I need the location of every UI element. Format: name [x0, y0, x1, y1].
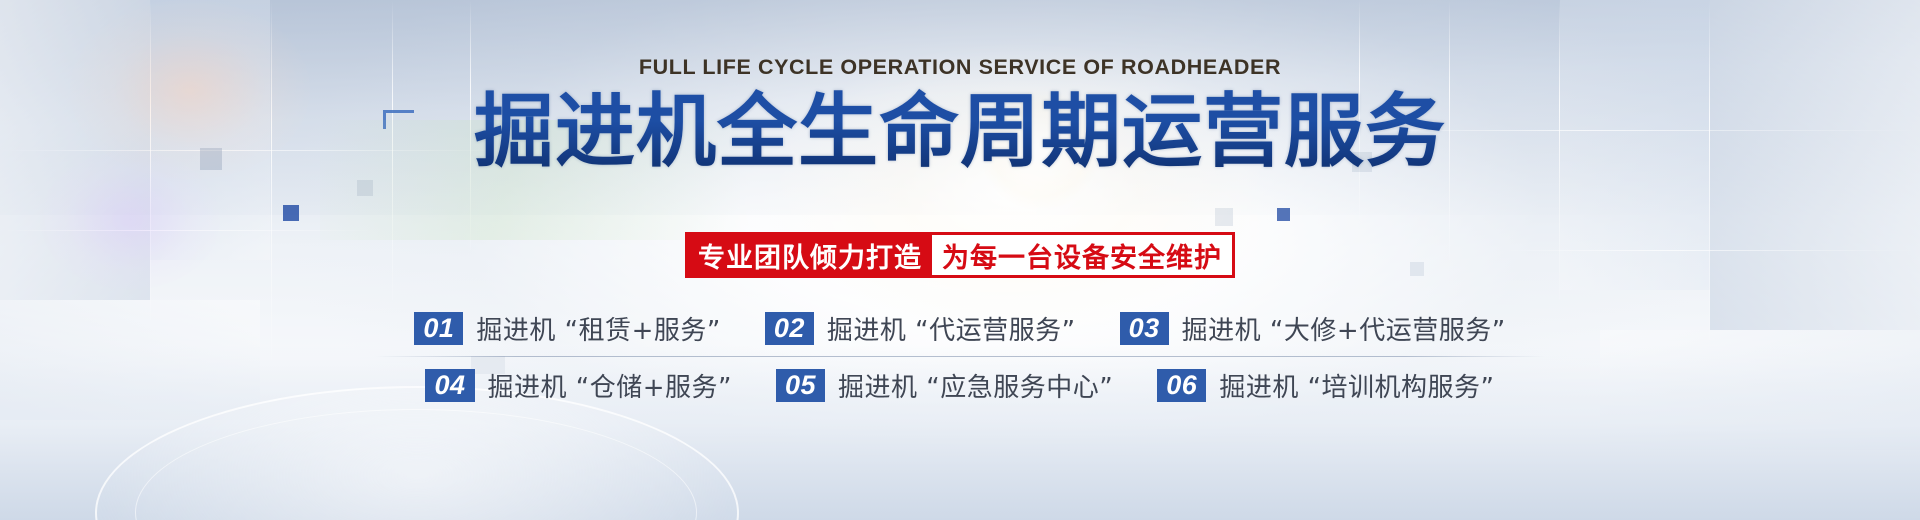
tagline-red-segment: 专业团队倾力打造	[688, 235, 932, 275]
service-item-01[interactable]: 01 掘进机 “租赁+服务”	[414, 310, 721, 347]
banner-tagline: 专业团队倾力打造 为每一台设备安全维护	[0, 232, 1920, 278]
service-label: 掘进机 “大修+代运营服务”	[1182, 310, 1506, 347]
service-number-badge: 02	[765, 312, 814, 345]
service-row-top: 01 掘进机 “租赁+服务” 02 掘进机 “代运营服务” 03 掘进机 “大修…	[375, 300, 1545, 356]
service-number-badge: 01	[414, 312, 463, 345]
service-item-06[interactable]: 06 掘进机 “培训机构服务”	[1157, 367, 1494, 404]
banner-content: FULL LIFE CYCLE OPERATION SERVICE OF ROA…	[0, 0, 1920, 520]
service-label: 掘进机 “代运营服务”	[827, 310, 1076, 347]
service-number-badge: 05	[776, 369, 825, 402]
banner-eyebrow-english: FULL LIFE CYCLE OPERATION SERVICE OF ROA…	[0, 55, 1920, 80]
service-row-bottom: 04 掘进机 “仓储+服务” 05 掘进机 “应急服务中心” 06 掘进机 “培…	[375, 357, 1545, 413]
service-item-03[interactable]: 03 掘进机 “大修+代运营服务”	[1120, 310, 1506, 347]
service-list: 01 掘进机 “租赁+服务” 02 掘进机 “代运营服务” 03 掘进机 “大修…	[375, 300, 1545, 413]
service-number-badge: 06	[1157, 369, 1206, 402]
service-number-badge: 03	[1120, 312, 1169, 345]
service-item-04[interactable]: 04 掘进机 “仓储+服务”	[425, 367, 732, 404]
service-item-02[interactable]: 02 掘进机 “代运营服务”	[765, 310, 1076, 347]
service-number-badge: 04	[425, 369, 474, 402]
promo-banner: FULL LIFE CYCLE OPERATION SERVICE OF ROA…	[0, 0, 1920, 520]
banner-headline: 掘进机全生命周期运营服务	[0, 86, 1920, 178]
service-label: 掘进机 “租赁+服务”	[476, 310, 721, 347]
service-label: 掘进机 “培训机构服务”	[1219, 367, 1494, 404]
service-item-05[interactable]: 05 掘进机 “应急服务中心”	[776, 367, 1113, 404]
tagline-white-segment: 为每一台设备安全维护	[932, 235, 1232, 275]
tagline-box: 专业团队倾力打造 为每一台设备安全维护	[685, 232, 1235, 278]
service-label: 掘进机 “应急服务中心”	[838, 367, 1113, 404]
service-label: 掘进机 “仓储+服务”	[488, 367, 733, 404]
